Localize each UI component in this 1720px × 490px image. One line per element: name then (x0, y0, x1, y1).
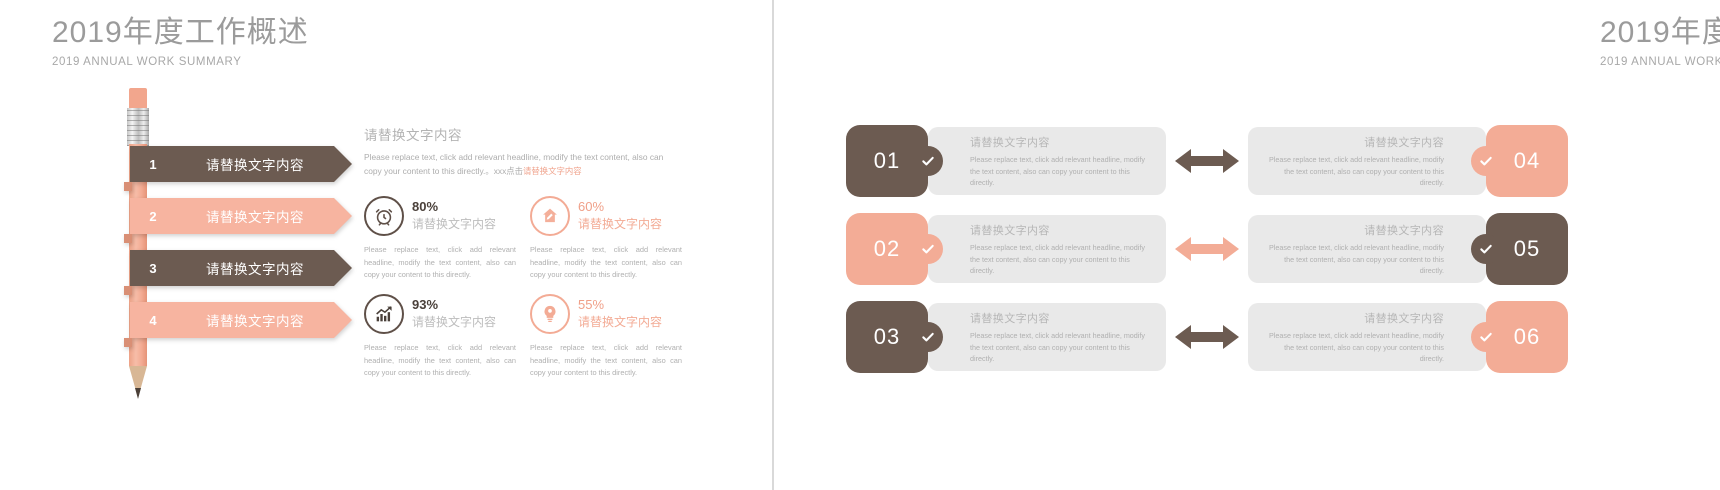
card-title: 请替换文字内容 (970, 137, 1050, 149)
card-title: 请替换文字内容 (1364, 313, 1444, 325)
banner-label: 请替换文字内容 (176, 310, 352, 330)
banner-number: 3 (130, 261, 176, 276)
stat-label: 请替换文字内容 (578, 217, 662, 233)
intro-title: 请替换文字内容 (364, 124, 664, 144)
slide-canvas: 2019年度工作概述 2019 ANNUAL WORK SUMMARY 1 请替… (0, 0, 1720, 490)
double-arrow-icon (1166, 323, 1248, 351)
banner-number: 4 (130, 313, 176, 328)
banner-label: 请替换文字内容 (176, 154, 352, 174)
stat-body: Please replace text, click add relevant … (530, 342, 682, 380)
content-card-03[interactable]: 请替换文字内容 Please replace text, click add r… (928, 303, 1166, 371)
card-text-group: 请替换文字内容 Please replace text, click add r… (1260, 133, 1444, 189)
card-title: 请替换文字内容 (970, 313, 1050, 325)
banner-label: 请替换文字内容 (176, 258, 352, 278)
check-icon (1471, 234, 1501, 264)
pencil-ferrule-icon (127, 108, 149, 146)
card-text-group: 请替换文字内容 Please replace text, click add r… (1260, 221, 1444, 277)
left-slide: 2019年度工作概述 2019 ANNUAL WORK SUMMARY 1 请替… (0, 0, 772, 490)
check-icon (1471, 146, 1501, 176)
stat-header: 60% 请替换文字内容 (530, 196, 682, 236)
intro-body-text: Please replace text, click add relevant … (364, 152, 663, 176)
stat-meta: 60% 请替换文字内容 (578, 200, 662, 233)
card-body: Please replace text, click add relevant … (970, 154, 1154, 189)
stat-card-2: 60% 请替换文字内容 Please replace text, click a… (530, 196, 682, 282)
stat-meta: 93% 请替换文字内容 (412, 298, 496, 331)
double-arrow-icon (1166, 147, 1248, 175)
card-text-group: 请替换文字内容 Please replace text, click add r… (1260, 309, 1444, 365)
check-icon (913, 146, 943, 176)
page-title: 2019年度工作概述 (52, 16, 309, 51)
page-subtitle: 2019 ANNUAL WORK SUMMARY (1600, 56, 1720, 68)
page-subtitle: 2019 ANNUAL WORK SUMMARY (52, 56, 309, 68)
card-body: Please replace text, click add relevant … (970, 242, 1154, 277)
content-card-01[interactable]: 请替换文字内容 Please replace text, click add r… (928, 127, 1166, 195)
content-card-05[interactable]: 请替换文字内容 Please replace text, click add r… (1248, 215, 1486, 283)
card-title: 请替换文字内容 (1364, 225, 1444, 237)
banner-number: 1 (130, 157, 176, 172)
banner-item-4[interactable]: 4 请替换文字内容 (130, 302, 352, 338)
card-body: Please replace text, click add relevant … (1260, 242, 1444, 277)
stat-body: Please replace text, click add relevant … (364, 244, 516, 282)
card-text-group: 请替换文字内容 Please replace text, click add r… (970, 221, 1154, 277)
intro-body-accent: 请替换文字内容 (523, 166, 582, 176)
card-body: Please replace text, click add relevant … (1260, 330, 1444, 365)
right-slide-header: 2019年度工作概述 2019 ANNUAL WORK SUMMARY (1600, 16, 1720, 68)
card-text-group: 请替换文字内容 Please replace text, click add r… (970, 309, 1154, 365)
card-title: 请替换文字内容 (1364, 137, 1444, 149)
stat-percent: 93% (412, 298, 496, 313)
left-slide-header: 2019年度工作概述 2019 ANNUAL WORK SUMMARY (52, 16, 309, 68)
stat-body: Please replace text, click add relevant … (530, 244, 682, 282)
card-body: Please replace text, click add relevant … (1260, 154, 1444, 189)
intro-block: 请替换文字内容 Please replace text, click add r… (364, 124, 664, 178)
stat-meta: 55% 请替换文字内容 (578, 298, 662, 331)
stat-card-1: 80% 请替换文字内容 Please replace text, click a… (364, 196, 516, 282)
stat-percent: 55% (578, 298, 662, 313)
card-body: Please replace text, click add relevant … (970, 330, 1154, 365)
content-card-02[interactable]: 请替换文字内容 Please replace text, click add r… (928, 215, 1166, 283)
double-arrow-icon (1166, 235, 1248, 263)
intro-body: Please replace text, click add relevant … (364, 151, 664, 178)
stat-label: 请替换文字内容 (412, 217, 496, 233)
banner-number: 2 (130, 209, 176, 224)
banner-item-1[interactable]: 1 请替换文字内容 (130, 146, 352, 182)
growth-chart-icon (364, 294, 404, 334)
pencil-eraser-icon (129, 88, 147, 110)
stat-header: 80% 请替换文字内容 (364, 196, 516, 236)
check-icon (913, 322, 943, 352)
home-pen-icon (530, 196, 570, 236)
card-text-group: 请替换文字内容 Please replace text, click add r… (970, 133, 1154, 189)
right-slide: 2019年度工作概述 2019 ANNUAL WORK SUMMARY 01 请… (772, 0, 1720, 490)
check-icon (913, 234, 943, 264)
content-card-04[interactable]: 请替换文字内容 Please replace text, click add r… (1248, 127, 1486, 195)
stat-header: 93% 请替换文字内容 (364, 294, 516, 334)
stat-card-4: 55% 请替换文字内容 Please replace text, click a… (530, 294, 682, 380)
content-card-06[interactable]: 请替换文字内容 Please replace text, click add r… (1248, 303, 1486, 371)
alarm-clock-icon (364, 196, 404, 236)
process-row-2: 02 请替换文字内容 Please replace text, click ad… (772, 213, 1720, 285)
process-row-1: 01 请替换文字内容 Please replace text, click ad… (772, 125, 1720, 197)
pencil-lead-icon (135, 388, 141, 399)
page-title: 2019年度工作概述 (1600, 16, 1720, 51)
stat-label: 请替换文字内容 (578, 315, 662, 331)
banner-item-2[interactable]: 2 请替换文字内容 (130, 198, 352, 234)
banner-label: 请替换文字内容 (176, 206, 352, 226)
lightbulb-icon (530, 294, 570, 334)
card-title: 请替换文字内容 (970, 225, 1050, 237)
stat-percent: 60% (578, 200, 662, 215)
process-row-3: 03 请替换文字内容 Please replace text, click ad… (772, 301, 1720, 373)
check-icon (1471, 322, 1501, 352)
banner-item-3[interactable]: 3 请替换文字内容 (130, 250, 352, 286)
stat-meta: 80% 请替换文字内容 (412, 200, 496, 233)
stat-card-3: 93% 请替换文字内容 Please replace text, click a… (364, 294, 516, 380)
stat-header: 55% 请替换文字内容 (530, 294, 682, 334)
stat-percent: 80% (412, 200, 496, 215)
stat-body: Please replace text, click add relevant … (364, 342, 516, 380)
stat-label: 请替换文字内容 (412, 315, 496, 331)
